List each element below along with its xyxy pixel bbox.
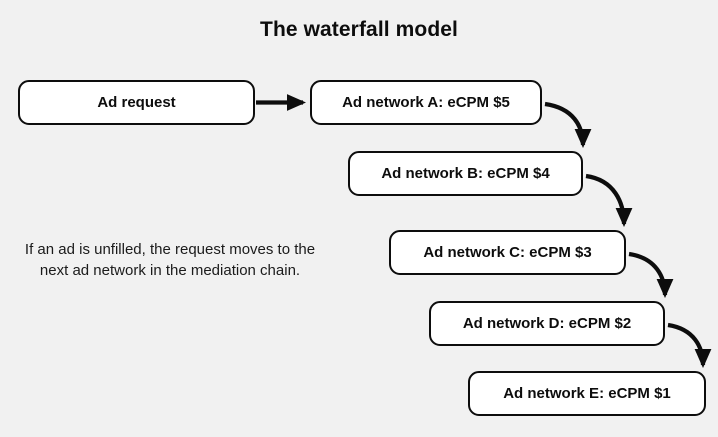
node-ad-network-a[interactable]: Ad network A: eCPM $5 xyxy=(310,80,542,125)
node-ad-network-e[interactable]: Ad network E: eCPM $1 xyxy=(468,371,706,416)
node-label: Ad request xyxy=(97,95,175,110)
arrow-c-to-d xyxy=(629,254,665,295)
node-ad-network-c[interactable]: Ad network C: eCPM $3 xyxy=(389,230,626,275)
node-label: Ad network D: eCPM $2 xyxy=(463,316,631,331)
arrow-b-to-c xyxy=(586,176,624,224)
node-label: Ad network A: eCPM $5 xyxy=(342,95,510,110)
node-label: Ad network E: eCPM $1 xyxy=(503,386,671,401)
diagram-canvas: The waterfall model Ad request Ad networ… xyxy=(0,0,718,437)
node-ad-network-d[interactable]: Ad network D: eCPM $2 xyxy=(429,301,665,346)
page-title: The waterfall model xyxy=(0,18,718,42)
arrow-d-to-e xyxy=(668,325,703,365)
node-label: Ad network C: eCPM $3 xyxy=(423,245,591,260)
arrow-a-to-b xyxy=(545,104,583,145)
node-label: Ad network B: eCPM $4 xyxy=(381,166,549,181)
node-ad-network-b[interactable]: Ad network B: eCPM $4 xyxy=(348,151,583,196)
explanatory-caption: If an ad is unfilled, the request moves … xyxy=(22,240,318,281)
node-ad-request[interactable]: Ad request xyxy=(18,80,255,125)
